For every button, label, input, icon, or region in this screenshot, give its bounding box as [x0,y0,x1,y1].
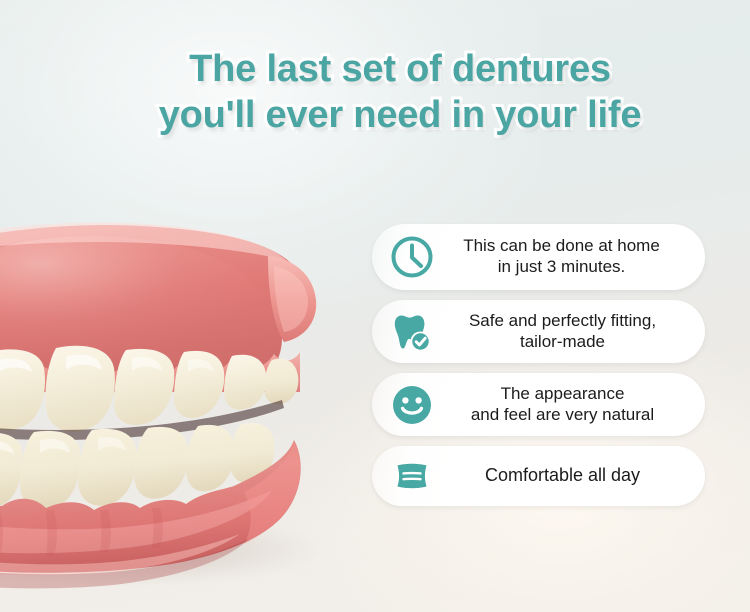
smiley-face-icon [388,381,436,429]
feature-card-natural-appearance[interactable]: The appearance and feel are very natural [372,373,705,436]
feature-text: Safe and perfectly fitting, tailor-made [436,311,691,352]
feature-card-safe-tailor-made[interactable]: Safe and perfectly fitting, tailor-made [372,300,705,363]
denture-photo [0,196,342,596]
clock-icon [388,233,436,281]
feature-card-comfortable-all-day[interactable]: Comfortable all day [372,446,705,506]
promo-banner: The last set of dentures you'll ever nee… [0,0,750,612]
headline: The last set of dentures you'll ever nee… [100,46,700,139]
tooth-check-icon [388,308,436,356]
feature-text: This can be done at home in just 3 minut… [436,236,691,277]
feature-list: This can be done at home in just 3 minut… [372,224,708,506]
pillow-icon [388,452,436,500]
feature-text: Comfortable all day [436,465,691,487]
feature-text: The appearance and feel are very natural [436,384,691,425]
feature-card-home-3-minutes[interactable]: This can be done at home in just 3 minut… [372,224,705,290]
